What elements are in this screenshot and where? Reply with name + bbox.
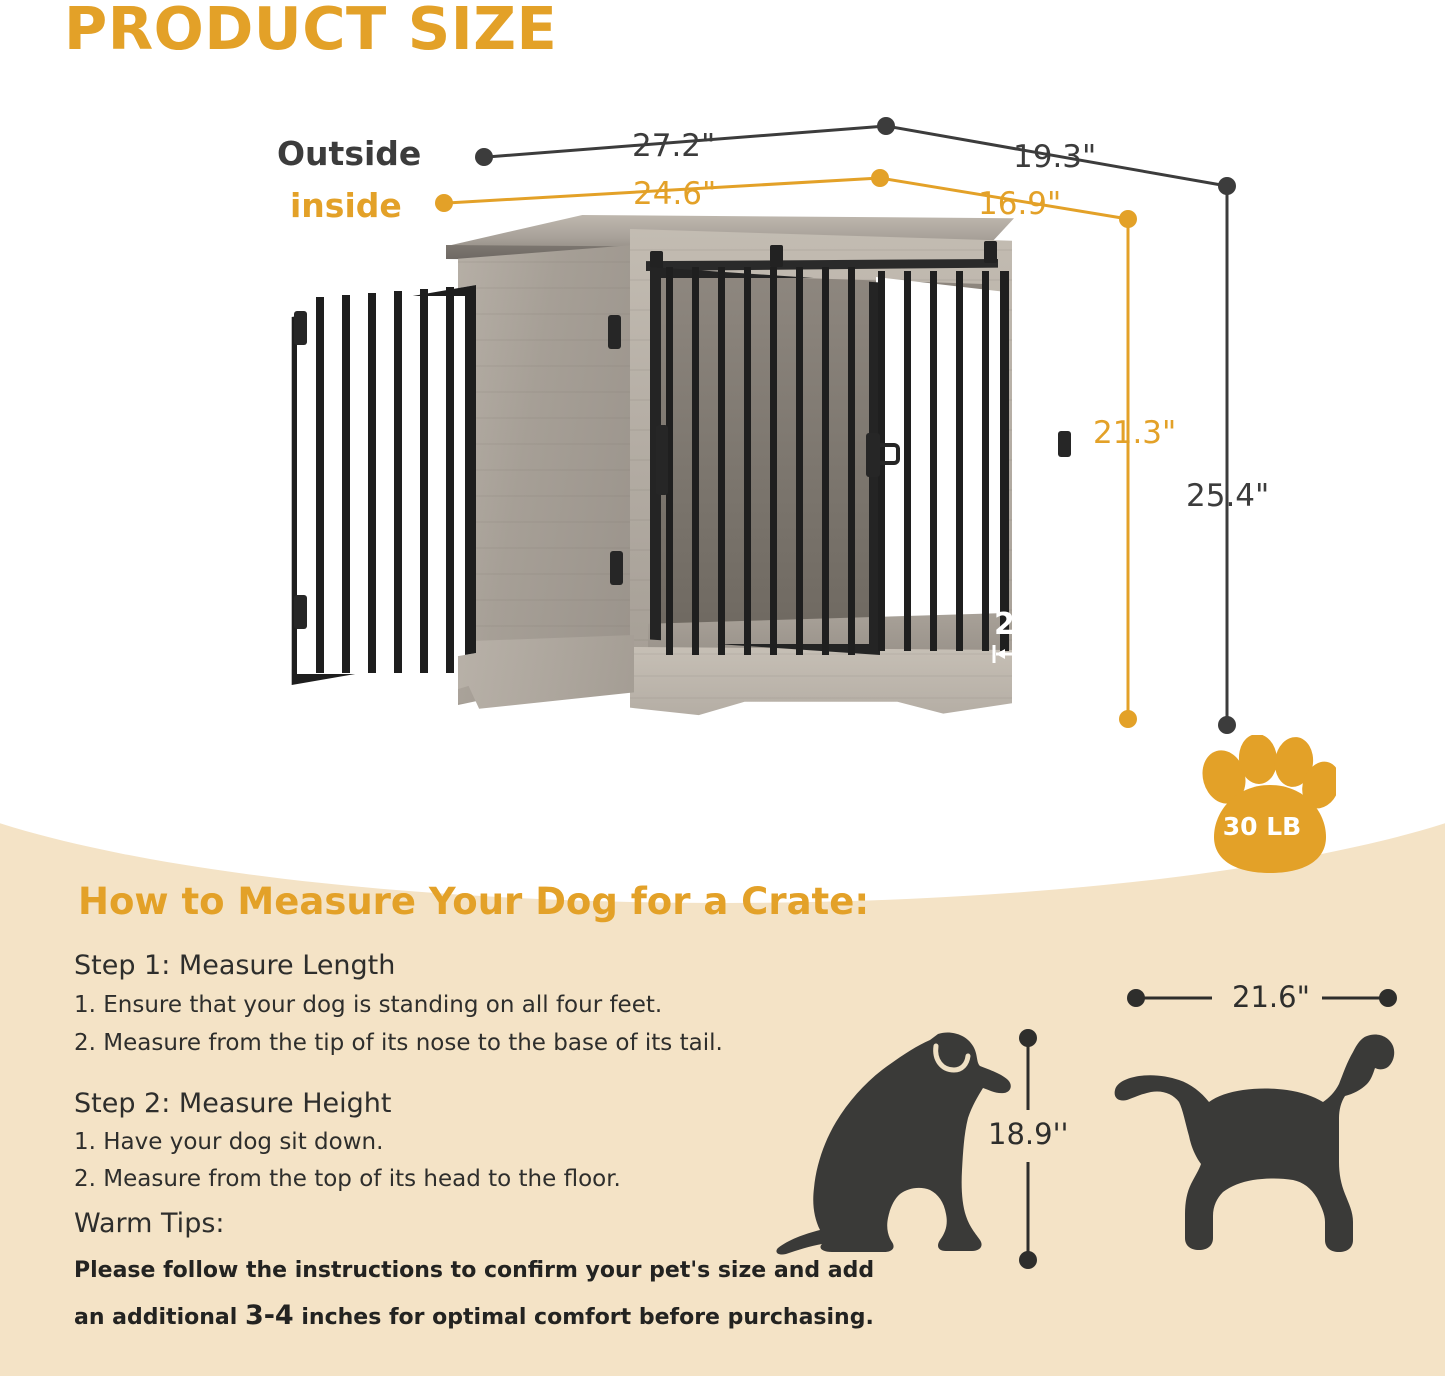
gate-latch-hook[interactable] — [874, 443, 900, 465]
gate-bar — [718, 267, 725, 655]
step1-heading: Step 1: Measure Length — [74, 950, 395, 981]
sliding-gate-closed-panel[interactable] — [650, 267, 880, 655]
warm-tips-line2-prefix: an additional — [74, 1305, 245, 1330]
gate-handle[interactable] — [656, 425, 668, 495]
crate-base-left — [458, 635, 634, 717]
gate-bar — [848, 267, 855, 655]
dimension-outside-width: 27.2" — [632, 128, 715, 164]
gate-bar — [744, 267, 751, 655]
warm-tips-heading: Warm Tips: — [74, 1208, 225, 1239]
dimension-inside-width: 24.6" — [633, 176, 716, 212]
side-door-bar — [316, 297, 324, 673]
gate-frame — [650, 267, 880, 655]
right-side-hinge — [1058, 431, 1071, 457]
dimension-inside-depth: 16.9" — [978, 186, 1061, 222]
bar-spacing-arrow-icon — [990, 643, 1046, 665]
gate-bar — [796, 267, 803, 655]
legend-outside-label: Outside — [277, 134, 421, 173]
step2-line-1: 1. Have your dog sit down. — [74, 1129, 383, 1155]
rail-clip-mid — [770, 245, 783, 267]
side-door-bar — [446, 287, 454, 673]
gate-bar — [982, 271, 989, 651]
dimension-outside-depth: 19.3" — [1013, 139, 1096, 175]
gate-bar — [956, 271, 963, 651]
gate-bar — [904, 271, 911, 651]
step1-line-1: 1. Ensure that your dog is standing on a… — [74, 992, 662, 1018]
gate-bar — [822, 267, 829, 655]
dog-height-label: 18.9'' — [988, 1117, 1069, 1151]
dog-length-label: 21.6" — [1232, 980, 1310, 1014]
crate-base-plinth — [630, 647, 1012, 721]
gate-edge-post — [1000, 271, 1009, 651]
warm-tips-line-1: Please follow the instructions to confir… — [74, 1258, 874, 1283]
step2-line-2: 2. Measure from the top of its head to t… — [74, 1166, 621, 1192]
dog-crate-illustration: 2" — [278, 215, 1088, 740]
legend-inside-label: inside — [290, 186, 402, 225]
page-title: PRODUCT SIZE — [64, 0, 557, 63]
howto-heading: How to Measure Your Dog for a Crate: — [78, 880, 869, 923]
door-hinge-bottom — [294, 595, 307, 629]
warm-tips-line-2: an additional 3-4 inches for optimal com… — [74, 1300, 874, 1331]
side-door-bar — [394, 291, 402, 673]
crate-left-side-panel — [458, 245, 633, 705]
warm-tips-line2-suffix: inches for optimal comfort before purcha… — [294, 1305, 874, 1330]
dimension-outside-height: 25.4" — [1186, 478, 1269, 514]
step1-line-2: 2. Measure from the tip of its nose to t… — [74, 1030, 723, 1056]
product-size-infographic: PRODUCT SIZE Outside inside — [0, 0, 1445, 1376]
side-door-bar — [368, 293, 376, 673]
warm-tips-inches-value: 3-4 — [245, 1300, 294, 1331]
weight-capacity-badge: 30 LB — [1210, 812, 1314, 841]
bar-spacing-label: 2" — [994, 607, 1031, 642]
standing-dog-silhouette — [1105, 1022, 1405, 1282]
crate-side-door-open[interactable] — [286, 285, 476, 685]
gate-bar — [930, 271, 937, 651]
side-door-bar — [420, 289, 428, 673]
paw-print-icon — [1186, 735, 1336, 875]
gate-bar — [692, 267, 699, 655]
door-hinge-top — [294, 311, 307, 345]
step2-heading: Step 2: Measure Height — [74, 1088, 392, 1119]
side-door-bar — [342, 295, 350, 673]
gate-bar — [770, 267, 777, 655]
cabinet-hinge-top — [608, 315, 621, 349]
dimension-inside-height: 21.3" — [1093, 415, 1176, 451]
rail-clip-right — [984, 241, 997, 263]
cabinet-hinge-bottom — [610, 551, 623, 585]
